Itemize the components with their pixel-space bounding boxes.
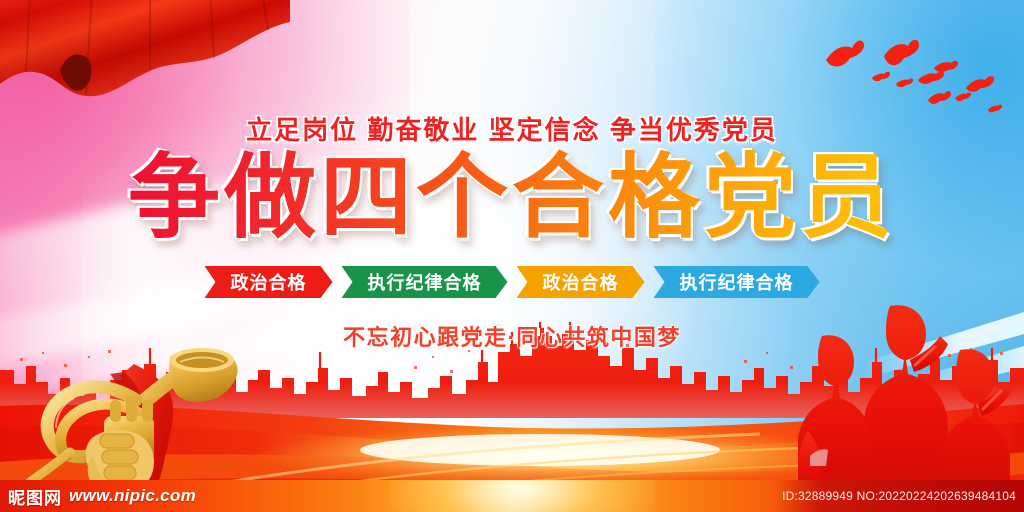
watermark-url-text[interactable]: www.nipic.com bbox=[69, 486, 196, 506]
red-flag-decoration bbox=[0, 0, 290, 110]
footer-watermark: 昵图网 www.nipic.com bbox=[8, 480, 196, 512]
red-flag-icon bbox=[0, 0, 290, 110]
trumpet-decoration bbox=[8, 338, 248, 498]
footer-id-text: ID:32889949 NO:20220224202639484104 bbox=[782, 489, 1016, 503]
soldiers-silhouette-decoration bbox=[798, 300, 1018, 490]
watermark-logo-text: 昵图网 bbox=[8, 484, 62, 509]
flying-birds-decoration bbox=[810, 28, 1020, 123]
footer-bar: 昵图网 www.nipic.com ID:32889949 NO:2022022… bbox=[0, 480, 1024, 512]
trumpet-icon bbox=[8, 338, 248, 498]
poster-canvas: 立足岗位 勤奋敬业 坚定信念 争当优秀党员 争做四个合格党员 政治合格 执行纪律… bbox=[0, 0, 1024, 512]
soldiers-icon bbox=[798, 300, 1018, 490]
footer-id-container: ID:32889949 NO:20220224202639484104 bbox=[774, 480, 1024, 512]
bird-flock-icon bbox=[810, 28, 1020, 123]
footer-glow bbox=[389, 480, 655, 512]
